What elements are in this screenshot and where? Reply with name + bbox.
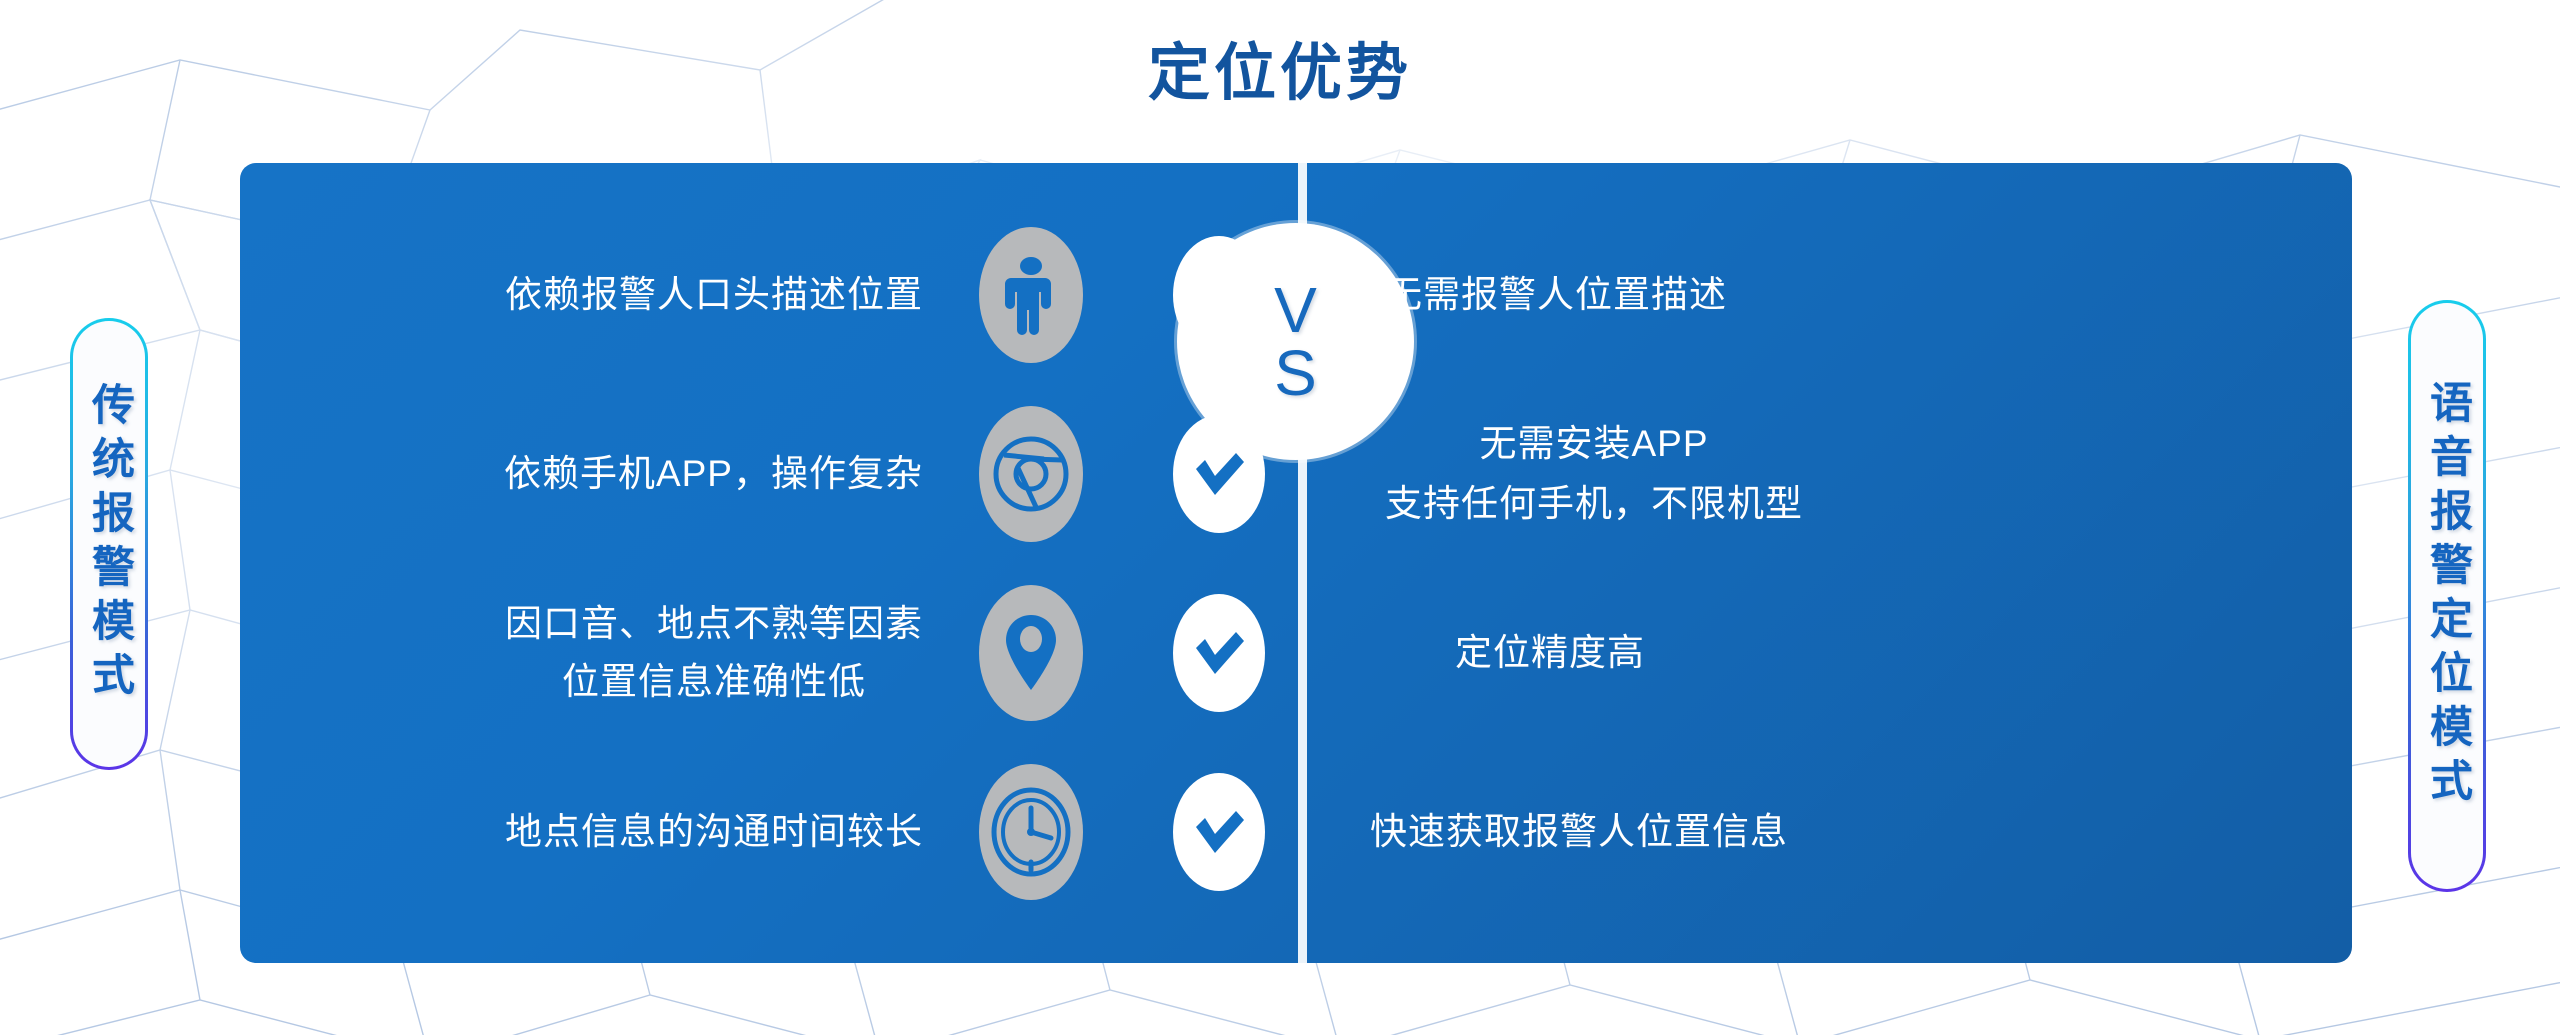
map-pin-icon: [979, 585, 1083, 721]
traditional-mode-column: 依赖报警人口头描述位置 依赖手机APP，操作复杂: [240, 163, 1105, 963]
right-mode-pill-label: 语音报警定位模式: [2426, 380, 2469, 812]
vs-badge: V S: [1177, 223, 1414, 460]
list-item-label: 无需报警人位置描述: [1385, 265, 1727, 325]
browser-chrome-icon: [979, 406, 1083, 542]
list-item: 地点信息的沟通时间较长: [240, 752, 1105, 912]
right-mode-pill-inner: 语音报警定位模式: [2411, 303, 2483, 889]
left-mode-pill-label: 传统报警模式: [88, 382, 131, 706]
right-mode-pill: 语音报警定位模式: [2408, 300, 2486, 892]
list-item-label-line1: 因口音、地点不熟等因素: [505, 603, 923, 644]
list-item: 依赖手机APP，操作复杂: [240, 394, 1105, 554]
left-mode-pill: 传统报警模式: [70, 318, 148, 770]
list-item-label: 地点信息的沟通时间较长: [505, 803, 923, 860]
list-item-label: 依赖手机APP，操作复杂: [504, 445, 923, 502]
list-item-label: 快速获取报警人位置信息: [1370, 802, 1788, 862]
left-mode-pill-inner: 传统报警模式: [73, 321, 145, 767]
vs-letter-top: V: [1274, 279, 1317, 342]
check-circle-icon: [1173, 773, 1265, 891]
list-item-label: 依赖报警人口头描述位置: [505, 266, 923, 323]
list-item: 因口音、地点不熟等因素 位置信息准确性低: [240, 573, 1105, 733]
person-icon: [979, 227, 1083, 363]
list-item-label-line2: 支持任何手机，不限机型: [1385, 474, 1803, 534]
clock-icon: [979, 764, 1083, 900]
list-item-label: 无需安装APP 支持任何手机，不限机型: [1385, 414, 1803, 534]
list-item-label: 定位精度高: [1455, 623, 1645, 683]
page-title: 定位优势: [0, 38, 2560, 109]
list-item: 定位精度高: [1105, 573, 2225, 733]
check-circle-icon: [1173, 594, 1265, 712]
list-item: 依赖报警人口头描述位置: [240, 215, 1105, 375]
list-item-label-line1: 无需安装APP: [1479, 423, 1708, 464]
list-item-label: 因口音、地点不熟等因素 位置信息准确性低: [505, 595, 923, 710]
list-item: 快速获取报警人位置信息: [1105, 752, 2225, 912]
vs-letter-bottom: S: [1274, 342, 1317, 405]
list-item-label-line2: 位置信息准确性低: [505, 653, 923, 710]
